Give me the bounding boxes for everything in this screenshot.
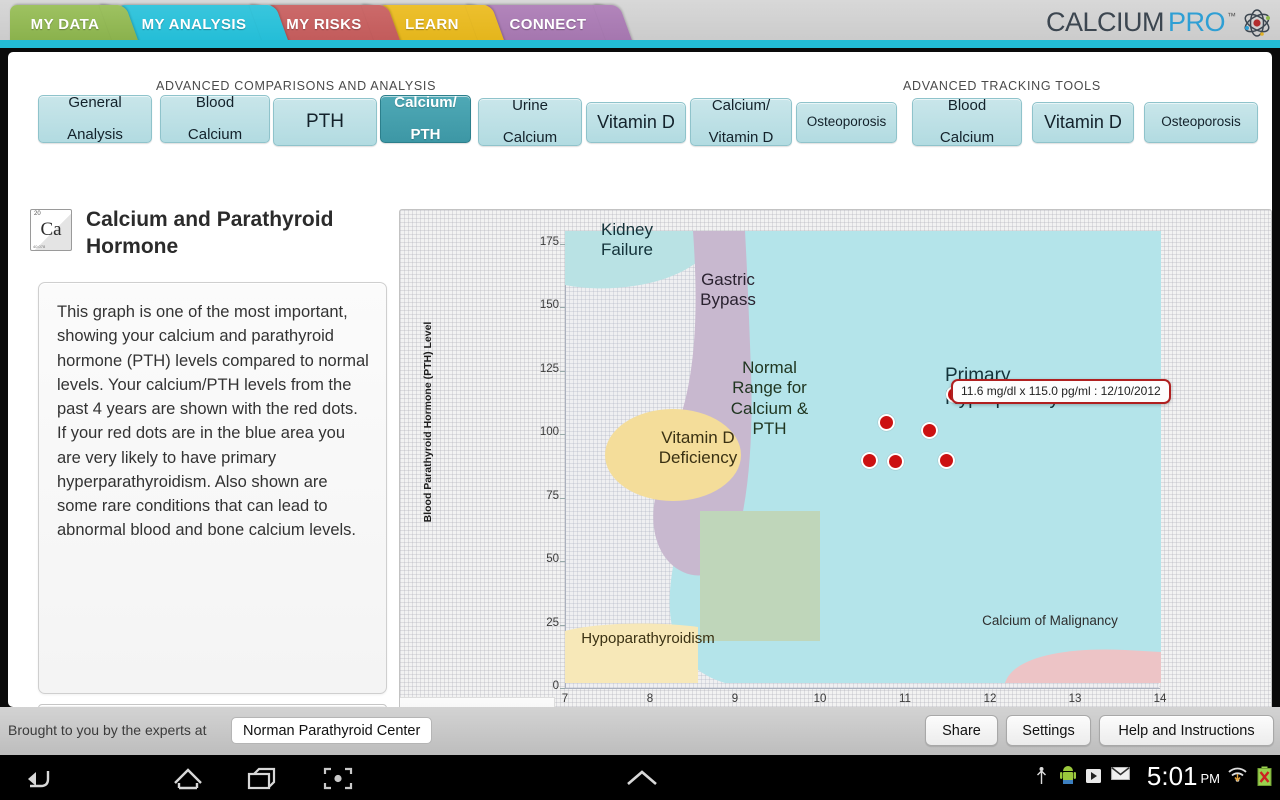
x-tick-label: 13 (1055, 693, 1095, 705)
section-title-tracking: ADVANCED TRACKING TOOLS (903, 79, 1101, 93)
android-robot-icon (1059, 766, 1078, 785)
button-label-line: Calcium (940, 130, 994, 146)
analysis-button-calcium-vitamin-d[interactable]: Calcium/Vitamin D (690, 98, 792, 146)
y-tick-label: 75 (499, 490, 559, 502)
recents-icon[interactable] (240, 763, 286, 793)
data-point[interactable] (887, 453, 904, 470)
content-page: ADVANCED COMPARISONS AND ANALYSIS ADVANC… (8, 52, 1272, 707)
usb-icon (1033, 766, 1052, 785)
android-system-bar: 5:01PM (0, 755, 1280, 800)
atom-icon (1242, 8, 1272, 38)
norman-parathyroid-center-button[interactable]: Norman Parathyroid Center (231, 717, 432, 744)
region-normal-range (700, 511, 820, 641)
analysis-button-general-analysis[interactable]: GeneralAnalysis (38, 95, 152, 143)
button-label-line: Calcium/ (712, 98, 770, 114)
button-label-line: PTH (411, 127, 441, 143)
button-label-line: Blood (948, 98, 986, 114)
y-tick-label: 125 (499, 363, 559, 375)
battery-error-icon (1257, 766, 1272, 786)
section-title-comparisons: ADVANCED COMPARISONS AND ANALYSIS (156, 79, 436, 93)
button-label-line: Blood (196, 95, 234, 111)
button-label-line: Analysis (67, 127, 123, 143)
description-text: This graph is one of the most important,… (57, 300, 370, 543)
trademark-symbol: ™ (1227, 11, 1236, 21)
chart-container[interactable]: Blood Parathyroid Hormone (PTH) Level Bl… (399, 209, 1272, 736)
play-store-icon (1085, 766, 1104, 785)
button-label-line: Urine (512, 98, 548, 114)
button-label-line: Calcium/ (394, 95, 457, 111)
brand-word-calcium: CALCIUM (1046, 7, 1164, 38)
data-point[interactable] (938, 452, 955, 469)
button-label-line: PTH (306, 112, 344, 133)
x-tick-label: 12 (970, 693, 1010, 705)
data-point[interactable] (878, 414, 895, 431)
status-icons (1033, 766, 1130, 785)
analysis-button-osteoporosis[interactable]: Osteoporosis (796, 102, 897, 143)
wifi-icon (1227, 766, 1248, 785)
status-clock: 5:01PM (1147, 761, 1220, 792)
element-atomic-number: 20 (34, 211, 41, 217)
analysis-button-urine-calcium[interactable]: UrineCalcium (478, 98, 582, 146)
y-tick-label: 150 (499, 299, 559, 311)
back-icon[interactable] (16, 763, 62, 793)
brand-word-pro: PRO (1168, 7, 1225, 38)
y-tick-label: 50 (499, 553, 559, 565)
y-tick-label: 0 (499, 680, 559, 692)
description-box: This graph is one of the most important,… (38, 282, 387, 694)
analysis-button-blood-calcium[interactable]: BloodCalcium (160, 95, 270, 143)
home-icon[interactable] (165, 763, 211, 793)
element-symbol: Ca (31, 219, 71, 241)
analysis-button-calcium-pth[interactable]: Calcium/PTH (380, 95, 471, 143)
calcium-element-icon: 20 Ca 40.078 (30, 209, 72, 251)
gmail-icon (1111, 766, 1130, 785)
footer-brought-by-text: Brought to you by the experts at (8, 722, 206, 738)
top-navigation-bar: MY DATA MY ANALYSIS MY RISKS LEARN CONNE… (0, 0, 1280, 48)
button-label-line: General (68, 95, 121, 111)
page-title: Calcium and Parathyroid Hormone (86, 207, 386, 261)
clock-meridiem: PM (1201, 771, 1221, 786)
y-tick-label: 25 (499, 617, 559, 629)
data-point[interactable] (861, 452, 878, 469)
element-atomic-weight: 40.078 (33, 244, 45, 249)
data-point-tooltip: 11.6 mg/dl x 115.0 pg/ml : 12/10/2012 (951, 379, 1171, 404)
app-root: MY DATA MY ANALYSIS MY RISKS LEARN CONNE… (0, 0, 1280, 800)
share-button[interactable]: Share (925, 715, 998, 746)
y-tick-label: 100 (499, 426, 559, 438)
button-label-line: Vitamin D (709, 130, 774, 146)
button-label-line: Vitamin D (597, 113, 675, 132)
button-label-line: Osteoporosis (807, 115, 887, 130)
tracking-button-blood-calcium[interactable]: BloodCalcium (912, 98, 1022, 146)
tracking-button-vitamin-d[interactable]: Vitamin D (1032, 102, 1134, 143)
brand-logo: CALCIUMPRO™ (1046, 7, 1272, 38)
expand-up-icon[interactable] (617, 763, 667, 793)
data-point[interactable] (921, 422, 938, 439)
x-tick-label: 9 (715, 693, 755, 705)
analysis-button-pth[interactable]: PTH (273, 98, 377, 146)
x-tick-label: 10 (800, 693, 840, 705)
region-hypoparathyroidism (565, 624, 698, 683)
y-tick-label: 175 (499, 236, 559, 248)
active-tab-strip (0, 40, 1280, 48)
region-vitamin-d-deficiency (605, 409, 741, 501)
analysis-button-vitamin-d[interactable]: Vitamin D (586, 102, 686, 143)
screenshot-icon[interactable] (315, 763, 361, 793)
button-label-line: Calcium (503, 130, 557, 146)
help-and-instructions-button[interactable]: Help and Instructions (1099, 715, 1274, 746)
button-label-line: Calcium (188, 127, 242, 143)
y-axis-label: Blood Parathyroid Hormone (PTH) Level (422, 302, 434, 542)
x-tick-label: 14 (1140, 693, 1180, 705)
x-tick-label: 8 (630, 693, 670, 705)
button-label-line: Vitamin D (1044, 113, 1122, 132)
settings-button[interactable]: Settings (1006, 715, 1091, 746)
x-tick-label: 11 (885, 693, 925, 705)
button-label-line: Osteoporosis (1161, 115, 1241, 130)
tracking-button-osteoporosis[interactable]: Osteoporosis (1144, 102, 1258, 143)
